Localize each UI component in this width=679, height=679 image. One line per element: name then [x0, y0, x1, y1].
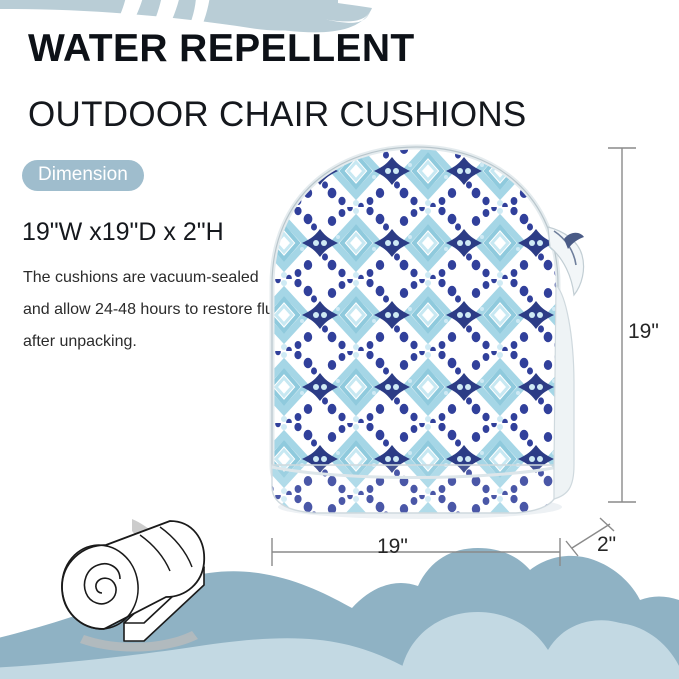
description-text: The cushions are vacuum-sealed and allow…: [23, 262, 283, 358]
headline-secondary: OUTDOOR CHAIR CUSHIONS: [28, 95, 527, 135]
dimension-badge: Dimension: [22, 160, 144, 191]
product-image-cushion: [248, 135, 608, 520]
height-dimension-label: 19": [628, 320, 659, 344]
rolled-cushion-illustration: [28, 505, 248, 665]
width-dimension-label: 19": [377, 535, 408, 559]
size-spec-text: 19"W x19"D x 2"H: [22, 218, 224, 247]
cushion-body: [248, 135, 608, 520]
depth-dimension-label: 2": [597, 533, 616, 557]
infographic-page: WATER REPELLENT OUTDOOR CHAIR CUSHIONS D…: [0, 0, 679, 679]
headline-primary: WATER REPELLENT: [28, 27, 415, 71]
